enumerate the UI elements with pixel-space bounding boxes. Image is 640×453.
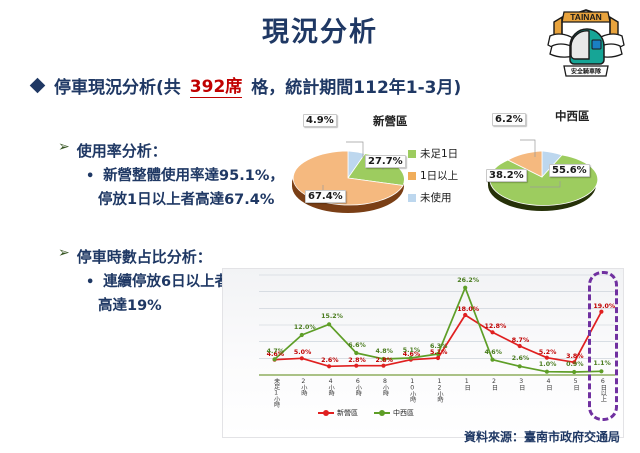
data-label: 2.6% <box>321 357 338 364</box>
legend-label: 中西區 <box>393 408 414 418</box>
legend-item-over1day: 1日以上 <box>408 168 458 183</box>
pie-graphic <box>288 128 418 224</box>
heading-highlight: 392席 <box>190 72 243 98</box>
legend-label: 1日以上 <box>420 168 458 183</box>
x-axis-label: 3日 <box>517 378 526 390</box>
bullet-usage-rate-heading: ➢ 使用率分析： <box>58 140 167 161</box>
x-axis-label: 2小時 <box>299 378 308 396</box>
dot-bullet-icon: • <box>86 273 98 293</box>
x-axis-label: 4日 <box>544 378 553 390</box>
data-label: 2.8% <box>348 357 365 364</box>
legend-label: 新營區 <box>337 408 358 418</box>
pie-chart-xinying: 新營區 4.9% 27.7% 67.4% <box>288 110 418 220</box>
data-label: 26.2% <box>457 277 479 284</box>
bullet-text: 高達19% <box>98 298 162 314</box>
data-label: 2.6% <box>512 355 529 362</box>
data-label: 12.8% <box>484 323 506 330</box>
bullet-label: 停車時數占比分析： <box>77 246 212 267</box>
data-label: 4.7% <box>267 348 284 355</box>
data-label: 15.2% <box>321 313 343 320</box>
line-chart-legend: 新營區 中西區 <box>318 408 414 418</box>
x-axis-label: 4小時 <box>326 378 335 396</box>
legend-label: 未足1日 <box>420 146 458 161</box>
bullet-duration-line2: 高達19% <box>98 295 162 317</box>
bullet-text: 停放1日以上者高達67.4% <box>98 192 274 208</box>
x-axis-label: 1日 <box>462 378 471 390</box>
x-axis-label: 12小時 <box>435 378 444 402</box>
pie-slice-label-under1day: 27.7% <box>365 155 406 168</box>
legend-item-under1day: 未足1日 <box>408 146 458 161</box>
data-label: 2.8% <box>376 357 393 364</box>
tainan-helmet-logo: TAINAN 安全騎車隊 <box>540 2 632 82</box>
legend-label: 未使用 <box>420 190 452 205</box>
line-chart-parking-duration: 4.6%5.0%2.6%2.8%2.8%4.6%5.1%18.0%12.8%8.… <box>222 268 624 438</box>
legend-line-green <box>374 412 390 414</box>
pie-slice-label-unused: 4.9% <box>303 114 337 127</box>
data-label: 4.8% <box>376 348 393 355</box>
pie-slice-label-over1day: 67.4% <box>305 190 346 203</box>
bullet-text: 新營整體使用率達95.1%， <box>103 168 284 184</box>
logo-bottom-text: 安全騎車隊 <box>571 68 602 76</box>
x-axis-label: 8小時 <box>381 378 390 396</box>
legend-line-red <box>318 412 334 414</box>
data-label: 6.6% <box>348 342 365 349</box>
x-axis-label: 6小時 <box>353 378 362 396</box>
data-label: 5.1% <box>403 347 420 354</box>
dot-bullet-icon: • <box>86 167 98 187</box>
legend-swatch-blue <box>408 194 416 202</box>
data-label: 6.3% <box>430 343 447 350</box>
data-label: 5.1% <box>430 349 447 356</box>
section-heading: 停車現況分析(共 392席 格，統計期間112年1-3月) <box>32 72 461 98</box>
legend-item-xinying: 新營區 <box>318 408 358 418</box>
logo-banner-text: TAINAN <box>570 12 601 22</box>
diamond-bullet-icon <box>30 77 46 93</box>
pie-legend: 未足1日 1日以上 未使用 <box>408 146 458 212</box>
data-label: 1.1% <box>593 360 610 367</box>
pie-title: 中西區 <box>555 108 590 124</box>
legend-item-unused: 未使用 <box>408 190 458 205</box>
bullet-duration-line1: • 連續停放6日以上者 <box>86 271 229 293</box>
bullet-text: 連續停放6日以上者 <box>103 274 229 290</box>
pie-chart-zhongxi: 中西區 6.2% 55.6% 38.2% <box>480 105 610 220</box>
data-label: 0.9% <box>566 361 583 368</box>
data-label: 8.7% <box>512 337 529 344</box>
slide-root: 現況分析 TAINAN 安全騎車隊 停車現況分析(共 392席 格，統計期間11… <box>0 0 640 453</box>
x-axis-label: 2日 <box>489 378 498 390</box>
legend-swatch-green <box>408 150 416 158</box>
data-label: 5.2% <box>539 349 556 356</box>
legend-item-zhongxi: 中西區 <box>374 408 414 418</box>
source-footer: 資料來源：臺南市政府交通局 <box>464 428 620 445</box>
data-label: 1.0% <box>539 361 556 368</box>
data-label: 5.0% <box>294 349 311 356</box>
data-label: 3.8% <box>566 353 583 360</box>
pie-slice-label-over1day: 38.2% <box>486 169 527 182</box>
x-axis-label: 6日以上 <box>598 378 607 402</box>
arrow-bullet-icon: ➢ <box>58 246 70 261</box>
heading-suffix: 格，統計期間112年1-3月) <box>251 73 461 98</box>
pie-slice-label-unused: 6.2% <box>492 113 526 126</box>
arrow-bullet-icon: ➢ <box>58 140 70 155</box>
x-axis-label: 10小時 <box>408 378 417 402</box>
bullet-label: 使用率分析： <box>77 140 167 161</box>
bullet-duration-heading: ➢ 停車時數占比分析： <box>58 246 212 267</box>
bullet-usage-rate-line1: • 新營整體使用率達95.1%， <box>86 165 284 187</box>
pie-slice-label-under1day: 55.6% <box>549 164 590 177</box>
heading-prefix: 停車現況分析(共 <box>54 73 181 98</box>
data-label: 18.0% <box>457 306 479 313</box>
data-label: 19.0% <box>593 303 615 310</box>
pie-title: 新營區 <box>373 113 408 129</box>
bullet-usage-rate-line2: 停放1日以上者高達67.4% <box>98 189 274 211</box>
data-label: 4.6% <box>484 349 501 356</box>
x-axis-label: 5日 <box>571 378 580 390</box>
x-axis-label: 未足1小時 <box>272 378 281 407</box>
data-label: 12.0% <box>294 324 316 331</box>
legend-swatch-orange <box>408 172 416 180</box>
